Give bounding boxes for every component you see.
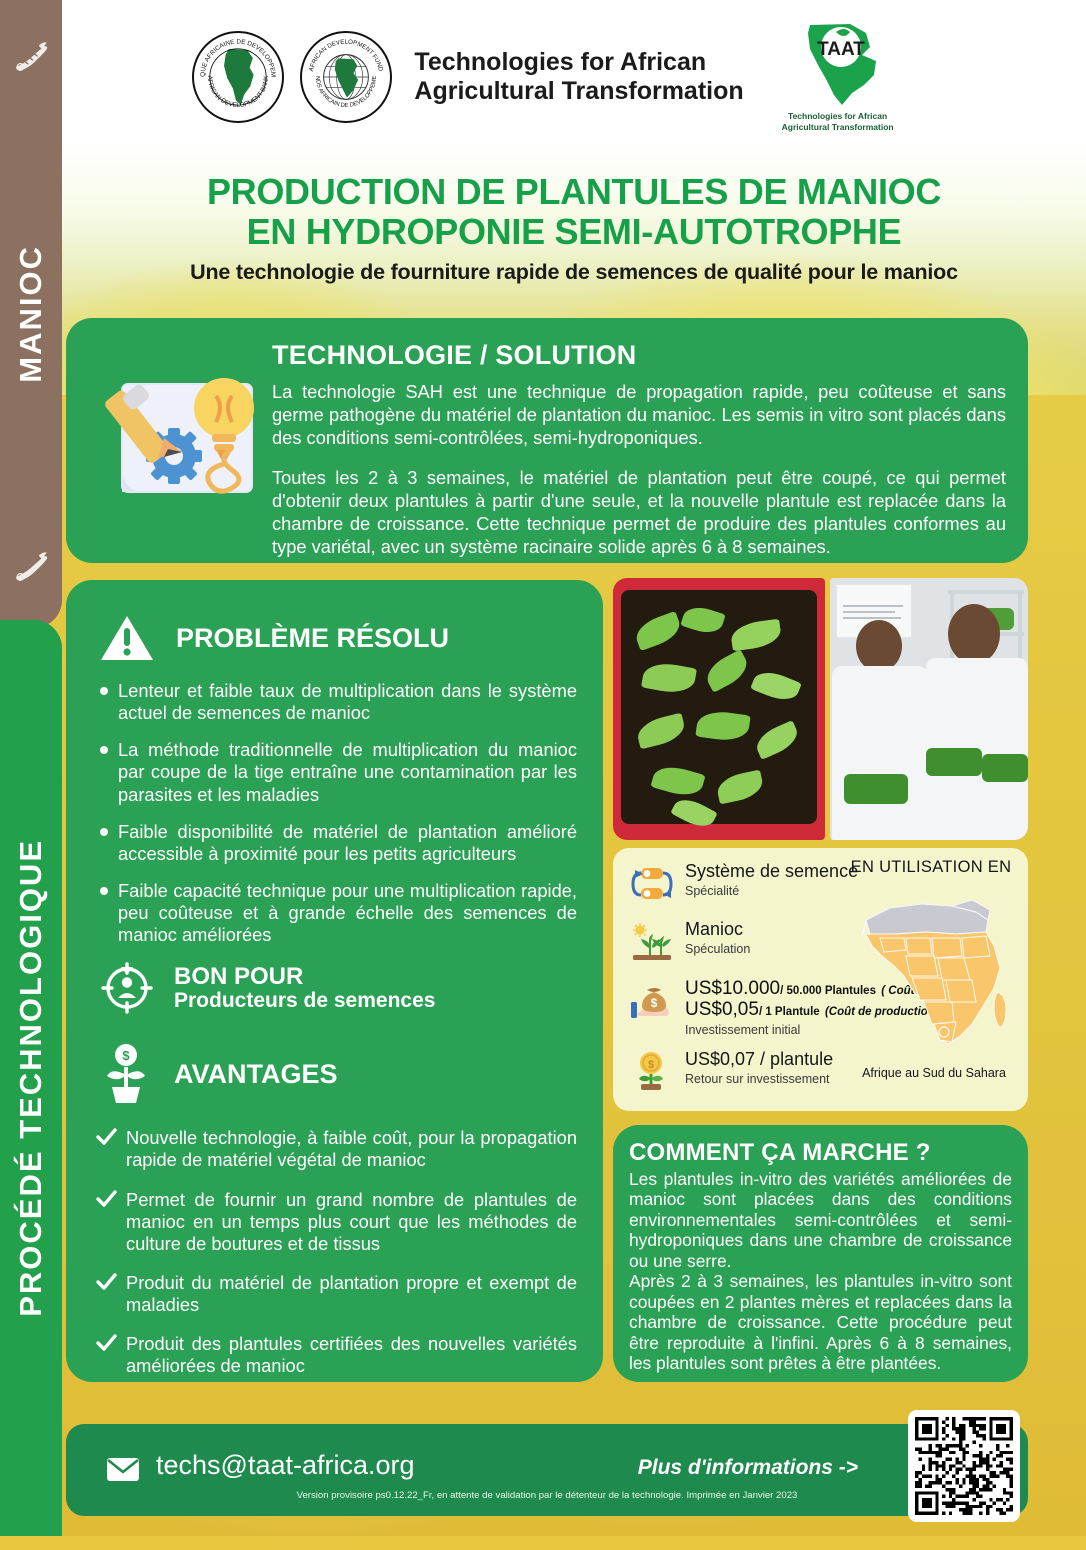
good-for-value: Producteurs de semences	[174, 989, 435, 1013]
problem-header: PROBLÈME RÉSOLU	[66, 580, 603, 662]
fact-commodity: Manioc Spéculation	[629, 920, 750, 964]
list-item-text: Produit du matériel de plantation propre…	[126, 1272, 577, 1315]
page-subtitle: Une technologie de fourniture rapide de …	[62, 260, 1086, 285]
contact-email-link[interactable]: techs@taat-africa.org	[156, 1450, 415, 1481]
taat-logo: TAAT Technologies for African Agricultur…	[782, 21, 894, 132]
technology-paragraph-1: La technologie SAH est une technique de …	[272, 381, 1006, 450]
check-icon	[96, 1190, 117, 1208]
technology-heading: TECHNOLOGIE / SOLUTION	[272, 340, 1006, 371]
page-title: PRODUCTION DE PLANTULES DE MANIOC EN HYD…	[62, 172, 1086, 253]
benefits-heading: AVANTAGES	[174, 1060, 338, 1088]
afdb-top-ring-label: BANQUE AFRICAINE DE DEVELOPPEMENT	[194, 33, 277, 77]
problem-list: Lenteur et faible taux de multiplication…	[96, 680, 577, 946]
africa-north-region	[866, 900, 990, 934]
blueprint-idea-icon	[102, 346, 272, 516]
footer-bar: techs@taat-africa.org Plus d'information…	[66, 1424, 1028, 1516]
svg-text:$: $	[122, 1048, 130, 1063]
commodity-value: Manioc	[685, 920, 750, 940]
problem-heading: PROBLÈME RÉSOLU	[176, 623, 449, 654]
madagascar-region	[994, 992, 1006, 1028]
qr-code-image	[915, 1417, 1013, 1515]
hero-title-block: PRODUCTION DE PLANTULES DE MANIOC EN HYD…	[62, 172, 1086, 285]
check-icon	[96, 1334, 117, 1352]
envelope-icon	[106, 1457, 140, 1482]
svg-text:AFRICAN DEVELOPMENT BANK: AFRICAN DEVELOPMENT BANK	[206, 75, 270, 109]
cassava-seedlings-tray-photo	[613, 578, 825, 840]
fact-returns: $ US$0,07 / plantule Retour sur investis…	[629, 1050, 833, 1094]
returns-label: Retour sur investissement	[685, 1072, 833, 1088]
list-item-text: Nouvelle technologie, à faible coût, pou…	[126, 1127, 577, 1170]
roi-coin-plant-icon: $	[629, 1050, 673, 1094]
good-for-block: BON POUR Producteurs de semences	[100, 961, 603, 1015]
warning-triangle-icon	[100, 614, 154, 662]
money-bag-icon: $	[629, 980, 673, 1024]
how-it-works-paragraph-2: Après 2 à 3 semaines, les plantules in-v…	[629, 1271, 1012, 1373]
adf-top-ring-label: AFRICAN DEVELOPMENT FUND	[308, 39, 384, 73]
africa-map	[848, 884, 1018, 1064]
list-item: La méthode traditionnelle de multiplicat…	[96, 739, 577, 805]
list-item-text: Permet de fournir un grand nombre de pla…	[126, 1189, 577, 1254]
list-item: Faible capacité technique pour une multi…	[96, 880, 577, 946]
list-item: Lenteur et faible taux de multiplication…	[96, 680, 577, 724]
adf-logo: AFRICAN DEVELOPMENT FUND FONDS AFRICAIN …	[300, 31, 392, 123]
list-item: Produit des plantules certifiées des nou…	[96, 1333, 577, 1377]
list-item: Nouvelle technologie, à faible coût, pou…	[96, 1127, 577, 1171]
org-title-line2: Agricultural Transformation	[414, 77, 743, 107]
more-info-label[interactable]: Plus d'informations ->	[638, 1456, 858, 1480]
technology-solution-card: TECHNOLOGIE / SOLUTION La technologie SA…	[66, 318, 1028, 563]
fact-specialty: Système de semence Spécialité	[629, 862, 858, 906]
map-caption: Afrique au Sud du Sahara	[841, 1066, 1027, 1080]
taat-africa-mark: TAAT	[784, 21, 892, 109]
africa-subsaharan-region	[862, 920, 1000, 1044]
svg-text:$: $	[651, 996, 658, 1010]
target-person-icon	[100, 961, 154, 1015]
good-for-heading: BON POUR	[174, 964, 435, 989]
returns-value: US$0,07 / plantule	[685, 1050, 833, 1070]
qr-code[interactable]	[908, 1410, 1020, 1522]
check-icon	[96, 1273, 117, 1291]
how-it-works-paragraph-1: Les plantules in-vitro des variétés amél…	[629, 1169, 1012, 1271]
check-icon	[96, 1128, 117, 1146]
taat-sub-line1: Technologies for African	[782, 111, 894, 122]
adf-ring-text: AFRICAN DEVELOPMENT FUND FONDS AFRICAIN …	[302, 33, 390, 121]
list-item: Faible disponibilité de matériel de plan…	[96, 821, 577, 865]
afdb-bottom-ring-label: AFRICAN DEVELOPMENT BANK	[206, 75, 270, 109]
how-it-works-card: COMMENT ÇA MARCHE ? Les plantules in-vit…	[613, 1125, 1028, 1382]
rail-label-manioc: MANIOC	[13, 245, 49, 383]
version-note: Version provisoire ps0.12.22_Fr, en atte…	[66, 1490, 1028, 1501]
taat-sublabel: Technologies for African Agricultural Tr…	[782, 111, 894, 132]
benefits-header: $ AVANTAGES	[100, 1043, 603, 1105]
benefits-list: Nouvelle technologie, à faible coût, pou…	[96, 1127, 577, 1377]
photo-strip	[613, 578, 1028, 840]
list-item: Produit du matériel de plantation propre…	[96, 1272, 577, 1316]
seed-system-icon	[629, 862, 673, 906]
rail-label-process: PROCÉDÉ TECHNOLOGIQUE	[13, 839, 49, 1317]
rail-section-process: PROCÉDÉ TECHNOLOGIQUE	[0, 620, 62, 1536]
taat-sub-line2: Agricultural Transformation	[782, 122, 894, 133]
afdb-ring-text: BANQUE AFRICAINE DE DEVELOPPEMENT AFRICA…	[194, 33, 282, 121]
list-item: Permet de fournir un grand nombre de pla…	[96, 1189, 577, 1255]
list-item-text: Produit des plantules certifiées des nou…	[126, 1333, 577, 1376]
specialty-label: Spécialité	[685, 884, 858, 900]
svg-text:AFRICAN DEVELOPMENT FUND: AFRICAN DEVELOPMENT FUND	[308, 39, 384, 73]
page-title-line1: PRODUCTION DE PLANTULES DE MANIOC	[207, 171, 941, 212]
left-rail: MANIOC PROCÉDÉ TECHNOLOGIQUE	[0, 0, 62, 1536]
org-title: Technologies for African Agricultural Tr…	[414, 48, 743, 107]
investment-amount-1: US$10.000	[685, 978, 780, 999]
researchers-lab-photo	[830, 578, 1028, 840]
svg-text:$: $	[648, 1059, 654, 1071]
technology-paragraph-2: Toutes les 2 à 3 semaines, le matériel d…	[272, 467, 1006, 559]
how-it-works-heading: COMMENT ÇA MARCHE ?	[629, 1139, 1012, 1167]
technology-body: TECHNOLOGIE / SOLUTION La technologie SA…	[272, 340, 1006, 559]
afdb-logo: BANQUE AFRICAINE DE DEVELOPPEMENT AFRICA…	[192, 31, 284, 123]
crop-field-icon	[629, 920, 673, 964]
org-title-line1: Technologies for African	[414, 48, 743, 78]
header-logos: BANQUE AFRICAINE DE DEVELOPPEMENT AFRICA…	[0, 14, 1086, 140]
taat-wordmark: TAAT	[817, 39, 865, 60]
problem-benefits-card: PROBLÈME RÉSOLU Lenteur et faible taux d…	[66, 580, 603, 1382]
specialty-value: Système de semence	[685, 862, 858, 882]
page-title-line2: EN HYDROPONIE SEMI-AUTOTROPHE	[247, 211, 902, 252]
svg-text:BANQUE AFRICAINE DE DEVELOPPEM: BANQUE AFRICAINE DE DEVELOPPEMENT	[194, 33, 277, 77]
commodity-label: Spéculation	[685, 942, 750, 958]
fact-panel: Système de semence Spécialité Manioc Spé…	[613, 848, 1028, 1111]
investment-unit-2: / 1 Plantule	[759, 1006, 820, 1018]
map-title: EN UTILISATION EN	[841, 858, 1021, 877]
money-plant-icon: $	[100, 1043, 154, 1105]
cassava-root-icon-2	[10, 548, 52, 590]
investment-amount-2: US$0,05	[685, 999, 759, 1020]
